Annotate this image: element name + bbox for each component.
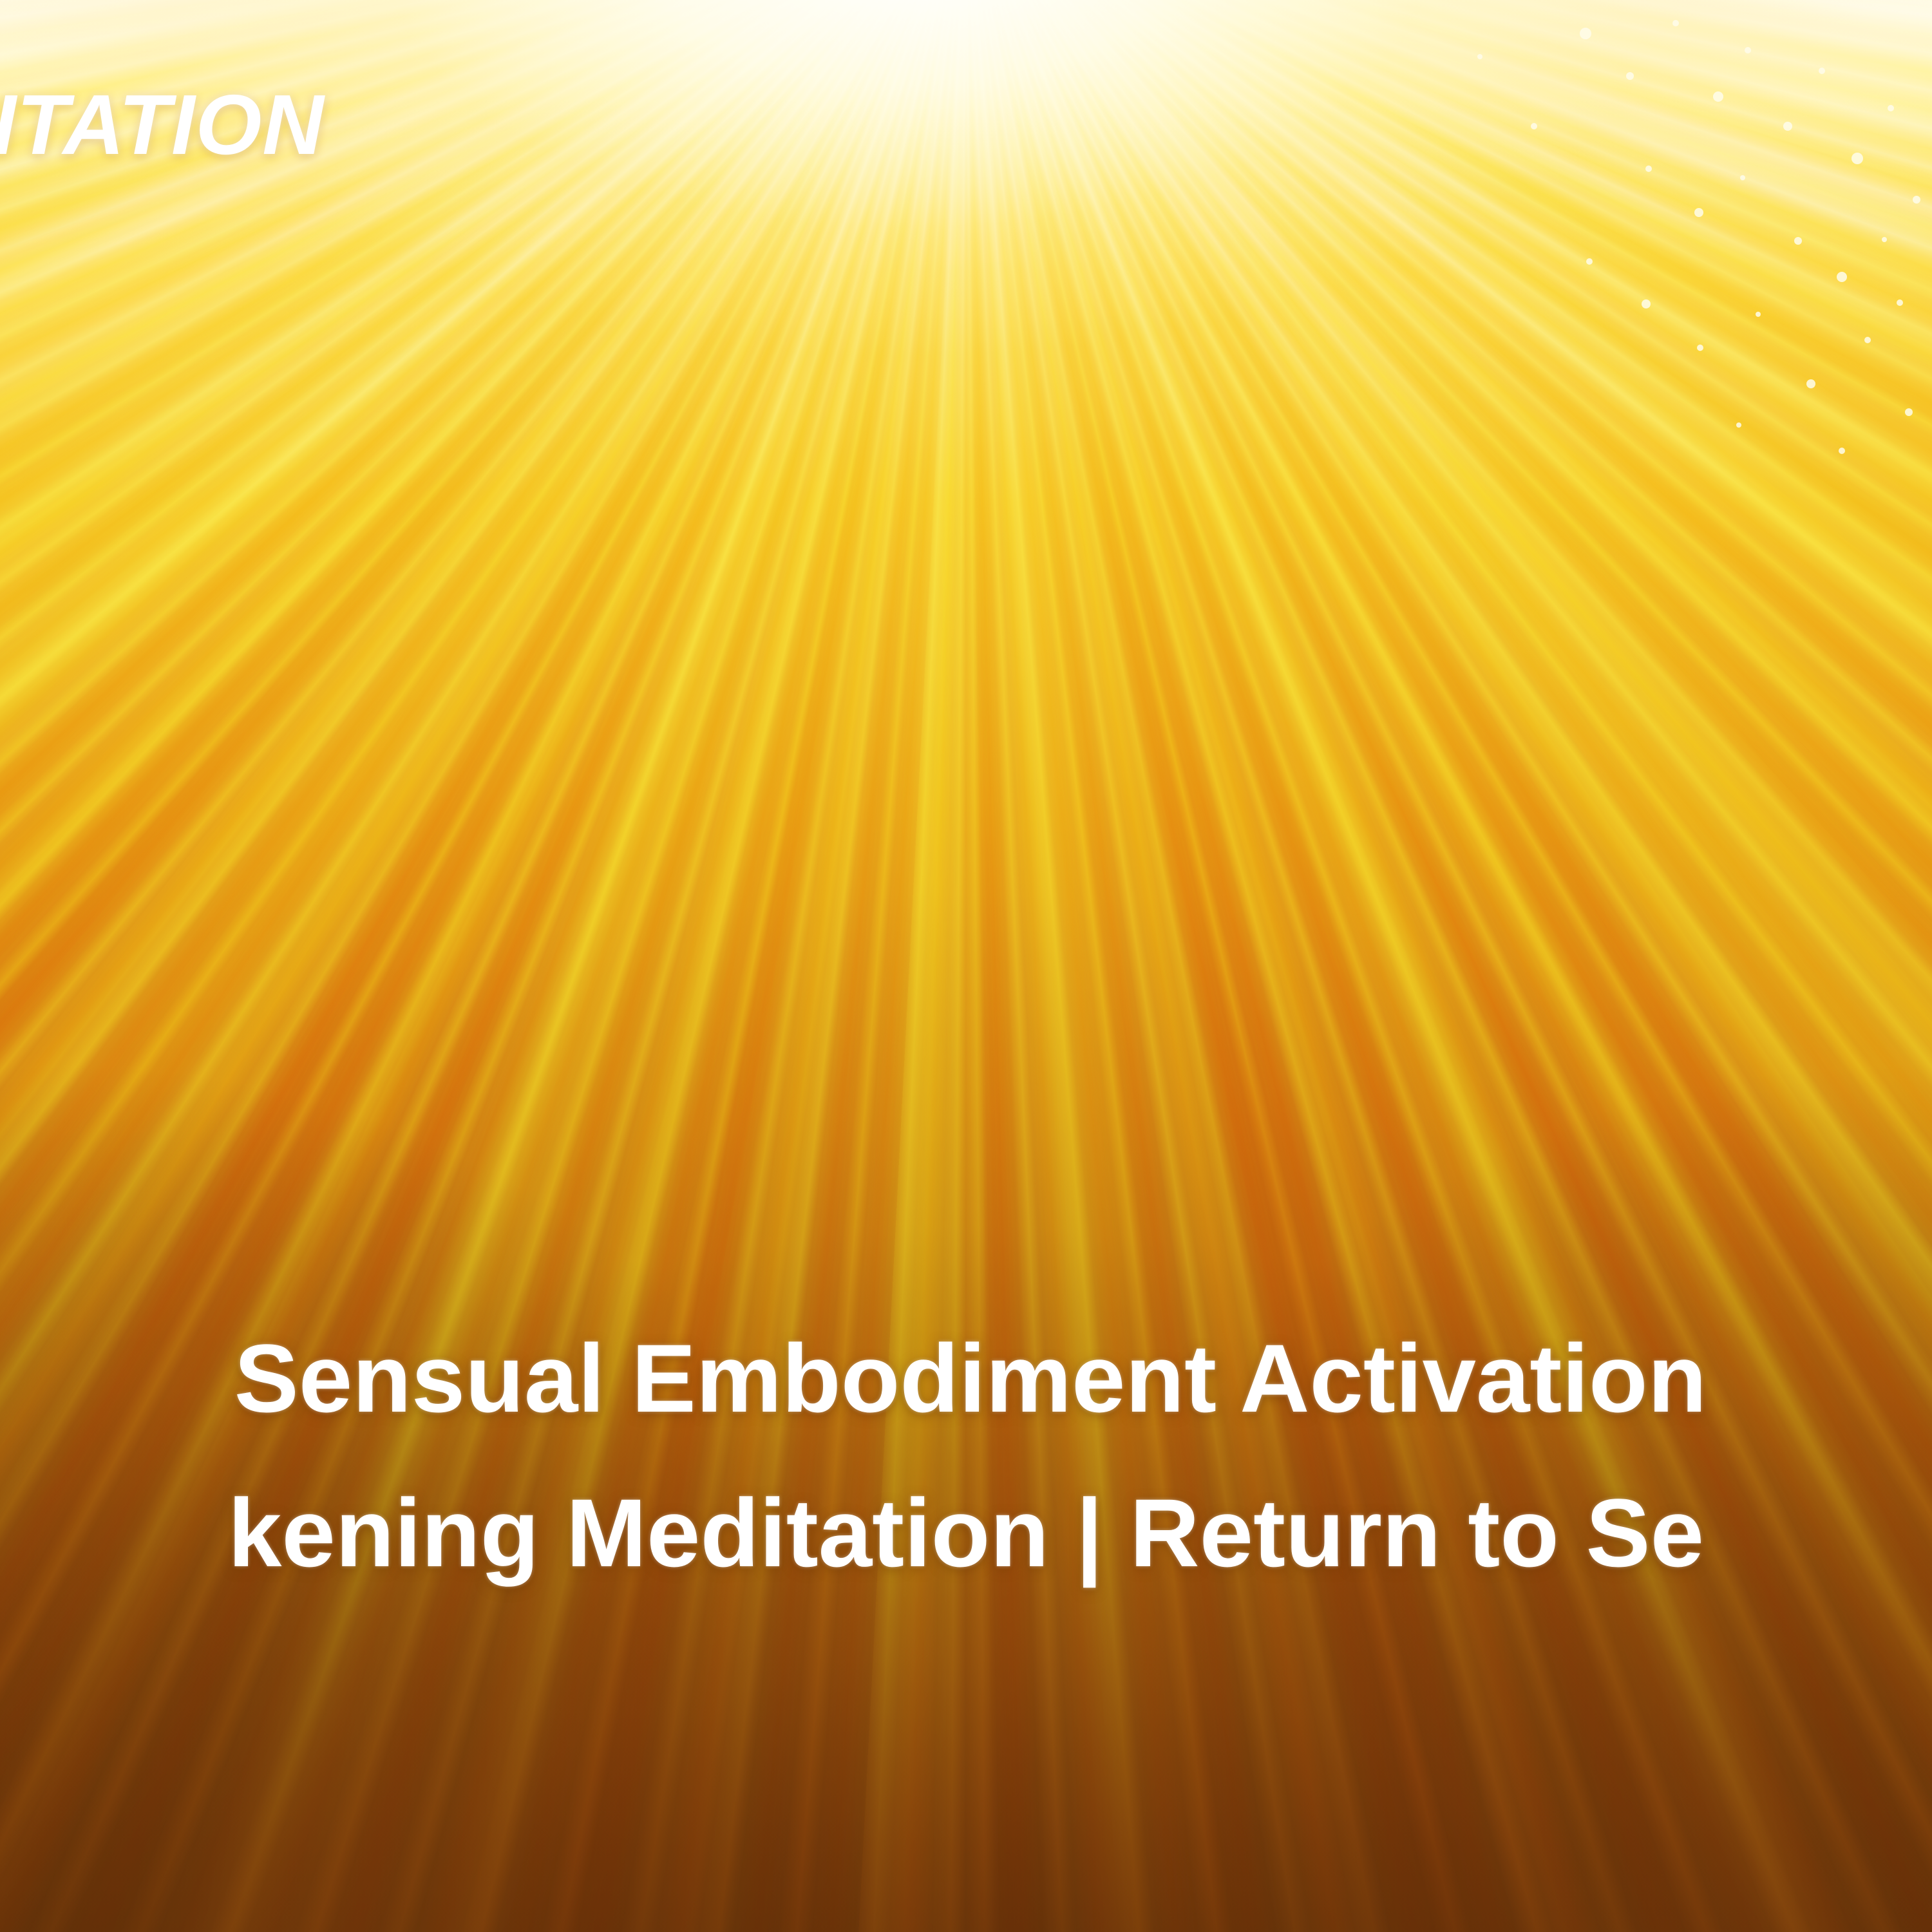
page-title: Sensual Embodiment Activation kening Med… — [0, 1301, 1932, 1610]
background-base-gradient — [0, 0, 1932, 1932]
ray-fan-medium-icon — [0, 0, 1932, 1932]
ray-fan-fine-icon — [0, 0, 1932, 1932]
title-line-2: kening Meditation | Return to Se — [0, 1455, 1932, 1610]
title-line-1: Sensual Embodiment Activation — [9, 1301, 1932, 1455]
video-thumbnail-canvas: DITATION Sensual Embodiment Activation k… — [0, 0, 1932, 1932]
sparkle-particles-icon — [0, 0, 1932, 1932]
category-eyebrow-text: DITATION — [0, 82, 325, 167]
ray-fan-wide-icon — [0, 0, 1932, 1932]
ray-fan-broad-icon — [0, 0, 1932, 1932]
sunburst-rays-background — [0, 0, 1932, 1932]
light-source-glow-icon — [0, 0, 1932, 1932]
background-vignette — [0, 0, 1932, 1932]
